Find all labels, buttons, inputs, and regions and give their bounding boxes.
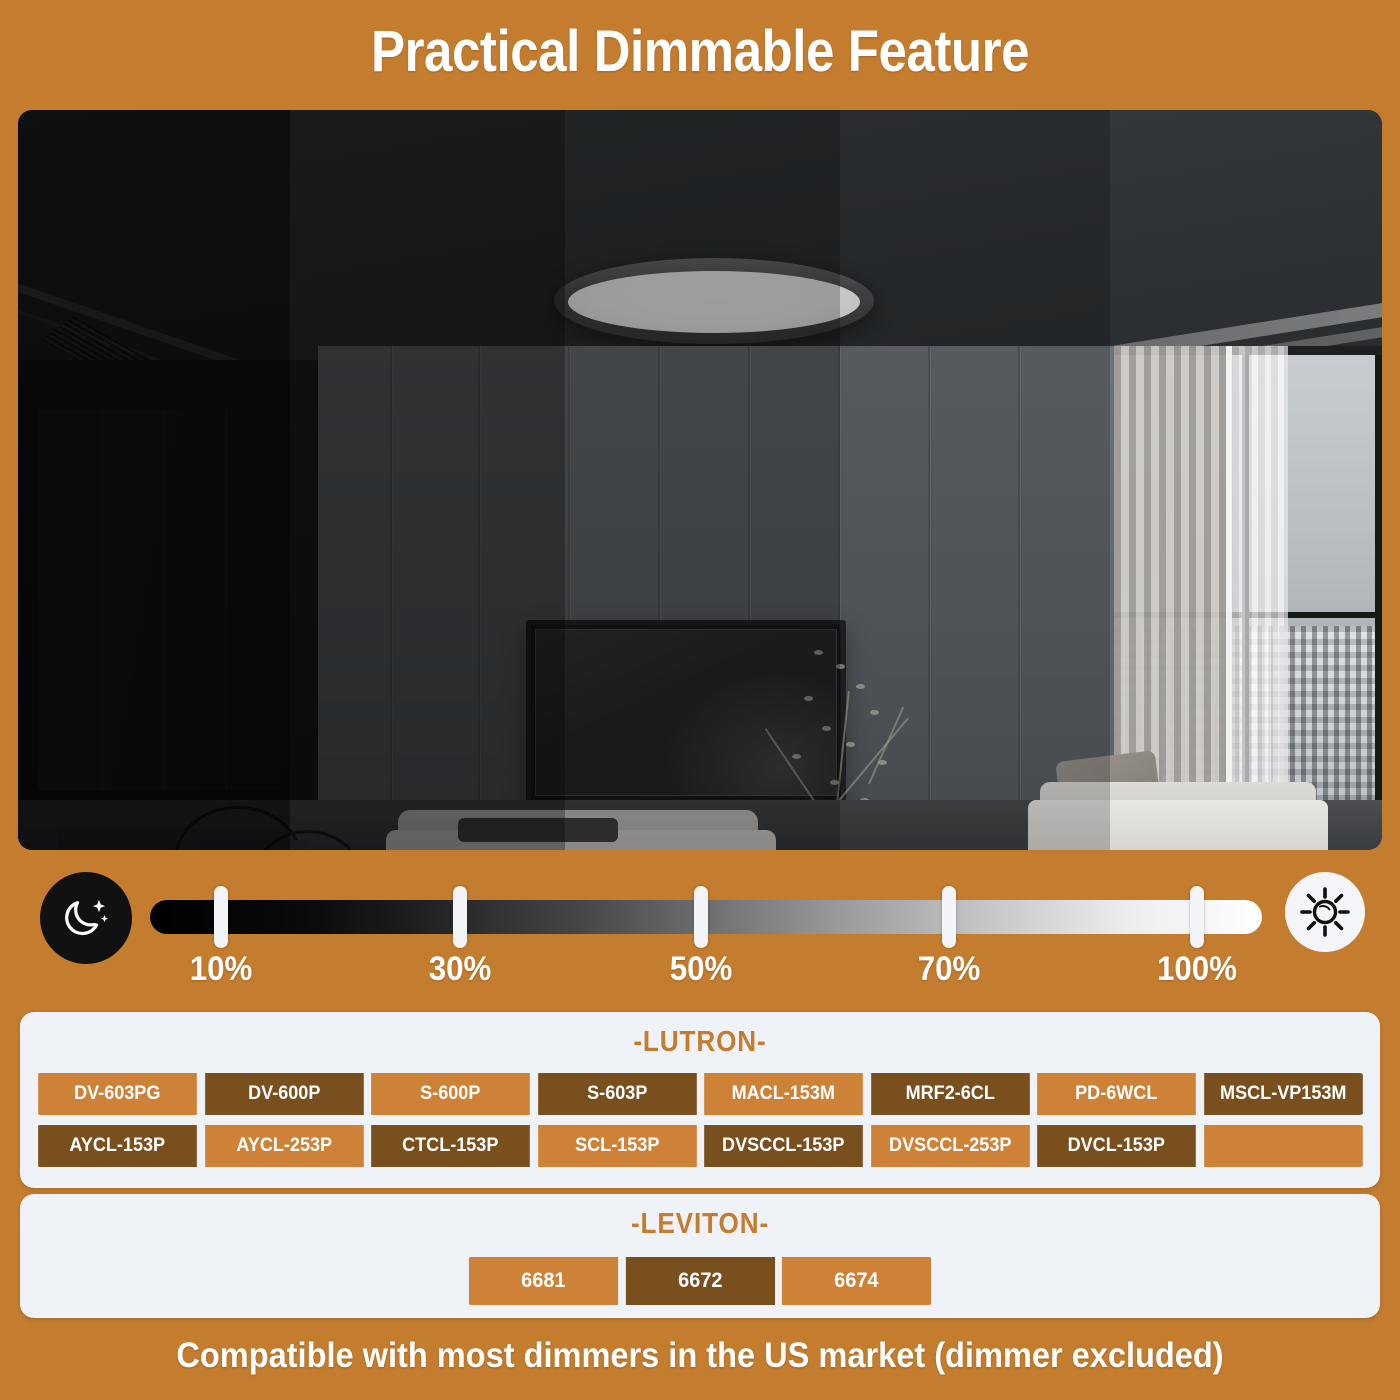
- model-chip[interactable]: SCL-153P: [538, 1125, 696, 1167]
- dim-band-50: [565, 110, 840, 850]
- model-chip[interactable]: CTCL-153P: [371, 1125, 529, 1167]
- model-chip[interactable]: S-603P: [538, 1073, 696, 1115]
- model-chip[interactable]: 6681: [469, 1257, 618, 1305]
- model-chip[interactable]: AYCL-153P: [38, 1125, 196, 1167]
- lutron-model-row-2: AYCL-153P AYCL-253P CTCL-153P SCL-153P D…: [34, 1125, 1366, 1167]
- hero-room-photo: [18, 110, 1382, 850]
- dim-band-30: [290, 110, 565, 850]
- dim-band-100: [1110, 110, 1382, 850]
- model-chip[interactable]: DVSCCL-153P: [704, 1125, 862, 1167]
- model-chip[interactable]: DVSCCL-253P: [871, 1125, 1029, 1167]
- leviton-model-row-1: 6681 6672 6674: [465, 1257, 935, 1305]
- page-title: Practical Dimmable Feature: [84, 18, 1316, 85]
- model-chip[interactable]: DVCL-153P: [1037, 1125, 1195, 1167]
- moon-icon: [40, 872, 132, 964]
- slider-label-100: 100%: [1133, 950, 1262, 989]
- dim-band-10: [18, 110, 290, 850]
- model-chip[interactable]: DV-600P: [205, 1073, 363, 1115]
- slider-label-10: 10%: [157, 950, 286, 989]
- model-chip[interactable]: DV-603PG: [38, 1073, 196, 1115]
- model-chip[interactable]: MACL-153M: [704, 1073, 862, 1115]
- model-chip[interactable]: S-600P: [371, 1073, 529, 1115]
- model-chip[interactable]: MSCL-VP153M: [1204, 1073, 1362, 1115]
- sun-icon: [1285, 872, 1365, 952]
- model-chip-empty: [1204, 1125, 1362, 1167]
- compatibility-note: Compatible with most dimmers in the US m…: [49, 1336, 1351, 1376]
- slider-label-30: 30%: [396, 950, 525, 989]
- slider-tick-30[interactable]: [453, 886, 467, 948]
- model-chip[interactable]: PD-6WCL: [1037, 1073, 1195, 1115]
- model-chip[interactable]: 6672: [626, 1257, 775, 1305]
- promo-page: Practical Dimmable Feature: [0, 0, 1400, 1400]
- slider-tick-100[interactable]: [1190, 886, 1204, 948]
- model-chip[interactable]: 6674: [782, 1257, 931, 1305]
- model-chip[interactable]: AYCL-253P: [205, 1125, 363, 1167]
- slider-tick-70[interactable]: [942, 886, 956, 948]
- slider-tick-10[interactable]: [214, 886, 228, 948]
- slider-label-70: 70%: [885, 950, 1014, 989]
- dimming-overlay-bands: [18, 110, 1382, 850]
- slider-label-50: 50%: [637, 950, 766, 989]
- brand-card-lutron: -LUTRON- DV-603PG DV-600P S-600P S-603P …: [20, 1012, 1380, 1188]
- model-chip[interactable]: MRF2-6CL: [871, 1073, 1029, 1115]
- lutron-model-row-1: DV-603PG DV-600P S-600P S-603P MACL-153M…: [34, 1073, 1366, 1115]
- brand-title-leviton: -LEVITON-: [88, 1194, 1312, 1241]
- slider-tick-50[interactable]: [694, 886, 708, 948]
- brand-card-leviton: -LEVITON- 6681 6672 6674: [20, 1194, 1380, 1318]
- dimmer-slider[interactable]: 10% 30% 50% 70% 100%: [0, 872, 1400, 968]
- dim-band-70: [840, 110, 1110, 850]
- brand-title-lutron: -LUTRON-: [88, 1012, 1312, 1059]
